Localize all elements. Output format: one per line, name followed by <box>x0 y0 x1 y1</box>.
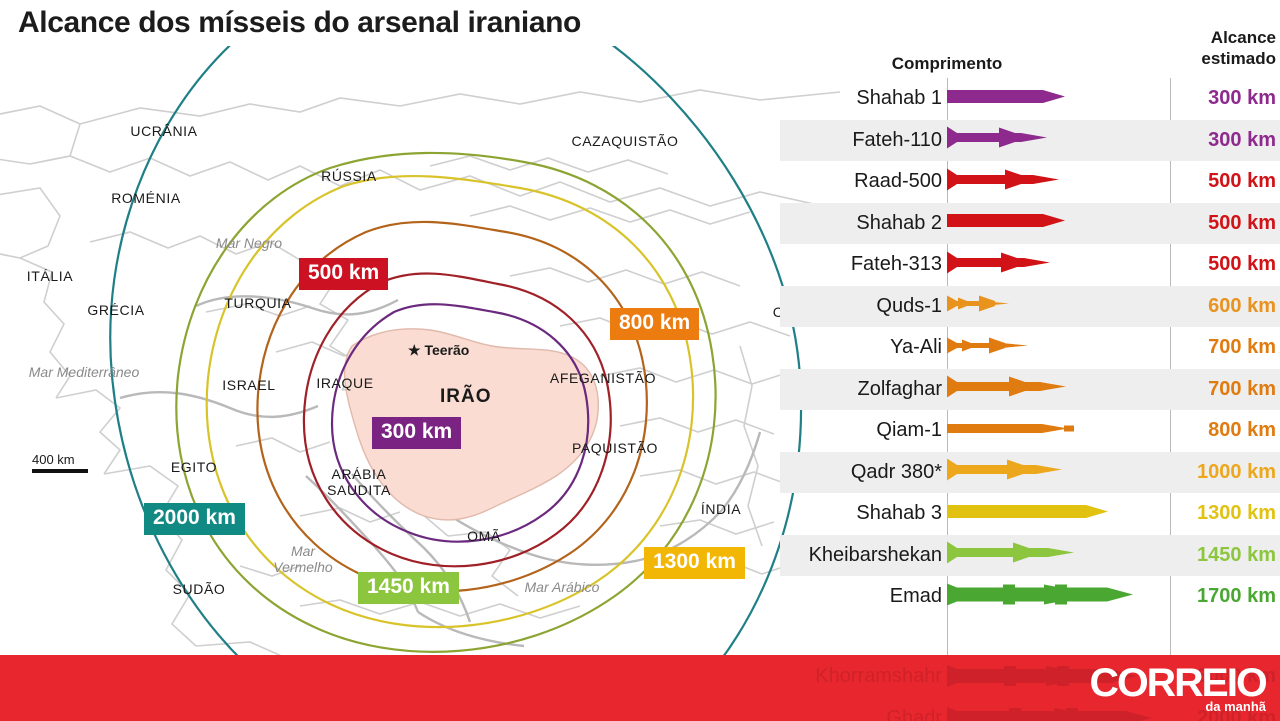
missile-length-bar <box>947 83 1071 114</box>
range-badge: 500 km <box>299 258 388 290</box>
missile-silhouette <box>947 540 1080 566</box>
missile-silhouette <box>947 498 1114 524</box>
range-badge: 1300 km <box>644 547 745 579</box>
scale-label: 400 km <box>32 452 88 467</box>
missile-name: Shahab 3 <box>856 502 942 525</box>
missile-silhouette <box>947 166 1065 192</box>
missile-range-value: 500 km <box>1208 212 1276 235</box>
infographic-root: Alcance dos mísseis do arsenal iraniano <box>0 0 1280 721</box>
map-scale-bar: 400 km <box>32 452 88 473</box>
range-badge: 1450 km <box>358 572 459 604</box>
missile-name: Fateh-110 <box>852 129 942 152</box>
country-label: ARÁBIA SAUDITA <box>299 466 419 498</box>
missile-silhouette <box>947 291 1015 317</box>
country-label: OMÃ <box>424 528 544 544</box>
table-row[interactable]: Qiam-1800 km <box>780 410 1280 452</box>
missile-length-bar <box>947 374 1072 405</box>
table-row[interactable]: Shahab 2500 km <box>780 203 1280 245</box>
bottom-banner: Khorramshahr3000 kmGhadr2000 km CORREIO … <box>0 655 1280 721</box>
country-label: TURQUIA <box>198 295 318 311</box>
sea-label: Mar Vermelho <box>243 543 363 575</box>
sea-label: Mar Mediterrâneo <box>24 364 144 380</box>
missile-name: Khorramshahr <box>815 665 942 688</box>
missile-name: Kheibarshekan <box>809 544 942 567</box>
missile-range-value: 1700 km <box>1197 585 1276 608</box>
country-label: AFEGANISTÃO <box>543 370 663 386</box>
map-panel: UCRÂNIAROMÉNIAITÁLIAGRÉCIATURQUIARÚSSIAC… <box>0 46 840 662</box>
capital-label-tehran: ★ Teerão <box>408 342 469 359</box>
missile-length-bar <box>947 540 1080 571</box>
missile-name: Shahab 2 <box>856 212 942 235</box>
missile-length-bar <box>947 332 1034 363</box>
table-row[interactable]: Quds-1600 km <box>780 286 1280 328</box>
table-row[interactable]: Qadr 380*1000 km <box>780 452 1280 494</box>
column-header-length: Comprimento <box>892 54 1003 74</box>
range-badge: 300 km <box>372 417 461 449</box>
missile-length-bar <box>947 457 1068 488</box>
missile-range-value: 1000 km <box>1197 461 1276 484</box>
country-label: SUDÃO <box>139 581 259 597</box>
missile-range-value: 500 km <box>1208 170 1276 193</box>
missile-name: Emad <box>890 585 942 608</box>
missile-range-value: 800 km <box>1208 419 1276 442</box>
column-header-range-line1: Alcance <box>1201 27 1276 48</box>
correio-logo: CORREIO da manhã <box>1093 663 1266 714</box>
table-row[interactable]: Fateh-110300 km <box>780 120 1280 162</box>
country-label: IRAQUE <box>285 375 405 391</box>
country-label: RÚSSIA <box>289 168 409 184</box>
table-row[interactable]: Shahab 1300 km <box>780 78 1280 120</box>
country-label: PAQUISTÃO <box>555 440 675 456</box>
range-badge: 800 km <box>610 308 699 340</box>
missile-length-bar <box>947 415 1074 446</box>
missile-silhouette <box>947 581 1139 607</box>
country-label: ITÁLIA <box>0 268 110 284</box>
missile-silhouette <box>947 457 1068 483</box>
table-row[interactable]: Raad-500500 km <box>780 161 1280 203</box>
missile-silhouette <box>947 125 1053 151</box>
missile-range-value: 600 km <box>1208 295 1276 318</box>
missile-range-value: 1450 km <box>1197 544 1276 567</box>
missile-length-bar <box>947 291 1015 322</box>
country-label-iran: IRÃO <box>440 386 492 408</box>
missile-range-value: 700 km <box>1208 336 1276 359</box>
missile-length-bar <box>947 166 1065 197</box>
page-title: Alcance dos mísseis do arsenal iraniano <box>18 6 581 40</box>
missile-length-bar <box>947 581 1139 612</box>
missile-range-value: 500 km <box>1208 253 1276 276</box>
missile-length-bar <box>947 498 1114 529</box>
country-label: ROMÉNIA <box>86 190 206 206</box>
missile-name: Raad-500 <box>854 170 942 193</box>
missile-range-value: 300 km <box>1208 87 1276 110</box>
missile-silhouette <box>947 208 1071 234</box>
missile-name: Zolfaghar <box>858 378 943 401</box>
missile-name: Qiam-1 <box>876 419 942 442</box>
missile-name: Ya-Ali <box>890 336 942 359</box>
table-row[interactable]: Zolfaghar700 km <box>780 369 1280 411</box>
country-label: GRÉCIA <box>56 302 176 318</box>
table-row[interactable]: Ya-Ali700 km <box>780 327 1280 369</box>
missile-name: Fateh-313 <box>851 253 942 276</box>
table-row[interactable]: Fateh-313500 km <box>780 244 1280 286</box>
country-label: ÍNDIA <box>661 501 781 517</box>
country-label: EGITO <box>134 459 254 475</box>
missile-silhouette <box>947 332 1034 358</box>
table-row[interactable]: Emad1700 km <box>780 576 1280 618</box>
logo-wordmark: CORREIO <box>1090 663 1266 703</box>
missile-name: Quds-1 <box>876 295 942 318</box>
missile-name: Shahab 1 <box>856 87 942 110</box>
table-row[interactable]: Shahab 31300 km <box>780 493 1280 535</box>
sea-label: Mar Arábico <box>502 579 622 595</box>
country-label: UCRÂNIA <box>104 123 224 139</box>
missile-range-value: 1300 km <box>1197 502 1276 525</box>
missile-silhouette <box>947 83 1071 109</box>
column-header-range: Alcance estimado <box>1201 27 1276 69</box>
scale-line <box>32 469 88 473</box>
country-label: CAZAQUISTÃO <box>565 133 685 149</box>
missile-name: Qadr 380* <box>851 461 942 484</box>
missile-name: Ghadr <box>886 707 942 721</box>
sea-label: Mar Negro <box>189 235 309 251</box>
table-row[interactable]: Kheibarshekan1450 km <box>780 535 1280 577</box>
missile-silhouette <box>947 374 1072 400</box>
column-header-range-line2: estimado <box>1201 48 1276 69</box>
missile-silhouette <box>947 249 1056 275</box>
missile-length-bar <box>947 208 1071 239</box>
missile-silhouette <box>947 415 1074 441</box>
missile-range-value: 700 km <box>1208 378 1276 401</box>
missile-range-value: 300 km <box>1208 129 1276 152</box>
missile-length-bar <box>947 249 1056 280</box>
range-badge: 2000 km <box>144 503 245 535</box>
missile-length-bar <box>947 125 1053 156</box>
